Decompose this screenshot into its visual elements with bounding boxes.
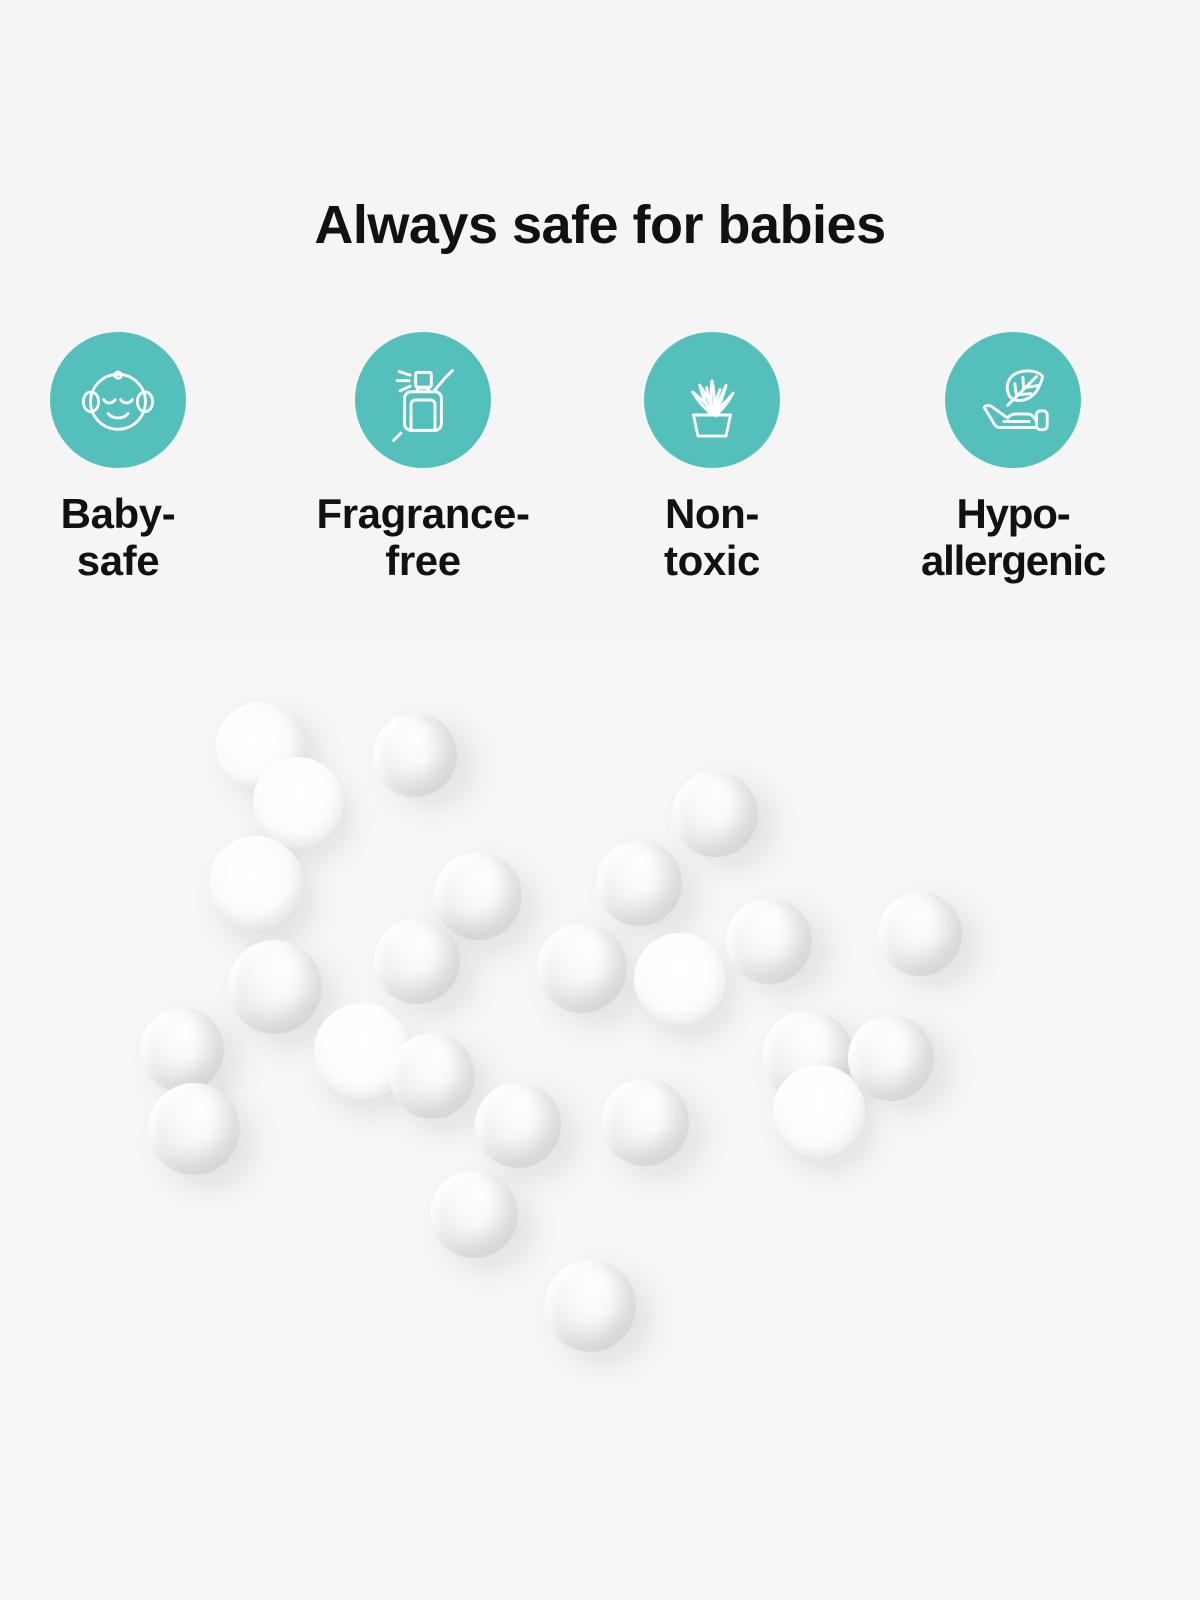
detergent-tablet [586,830,692,936]
potted-plant-icon [668,356,756,444]
detergent-tablet [141,1076,248,1183]
safe-for-babies-panel: Always safe for babies [0,0,1200,1600]
feature-badge-non-toxic[interactable]: Non- toxic [582,332,842,585]
feature-badge-hypoallergenic[interactable]: Hypo- allergenic [883,332,1143,585]
badge-label-hypoallergenic: Hypo- allergenic [883,490,1143,585]
product-photo-detergent-tablets [0,640,1200,1600]
badge-circle-hypoallergenic [945,332,1081,468]
page-title: Always safe for babies [0,196,1200,255]
baby-face-icon [73,355,163,445]
hand-holding-leaf-icon [968,355,1058,445]
detergent-tablet [534,1250,646,1362]
feature-badge-baby-safe[interactable]: Baby- safe [0,332,248,585]
detergent-tablet [360,700,469,809]
no-fragrance-perfume-bottle-icon [377,354,469,446]
badge-label-non-toxic: Non- toxic [582,490,842,585]
detergent-tablet [205,832,307,934]
detergent-tablet [631,930,729,1028]
detergent-tablet [593,1070,697,1174]
feature-badge-row: Baby- safe [0,332,1200,612]
detergent-tablet [661,760,769,868]
detergent-tablet [466,1073,570,1177]
badge-circle-non-toxic [644,332,780,468]
badge-circle-baby-safe [50,332,186,468]
badge-label-baby-safe: Baby- safe [0,490,248,585]
detergent-tablet [422,1162,526,1266]
detergent-tablet [222,934,328,1040]
feature-badge-fragrance-free[interactable]: Fragrance- free [293,332,553,585]
badge-circle-fragrance-free [355,332,491,468]
detergent-tablet [867,881,973,987]
detergent-tablet [714,886,824,996]
detergent-tablet [529,915,636,1022]
badge-label-fragrance-free: Fragrance- free [293,490,553,585]
